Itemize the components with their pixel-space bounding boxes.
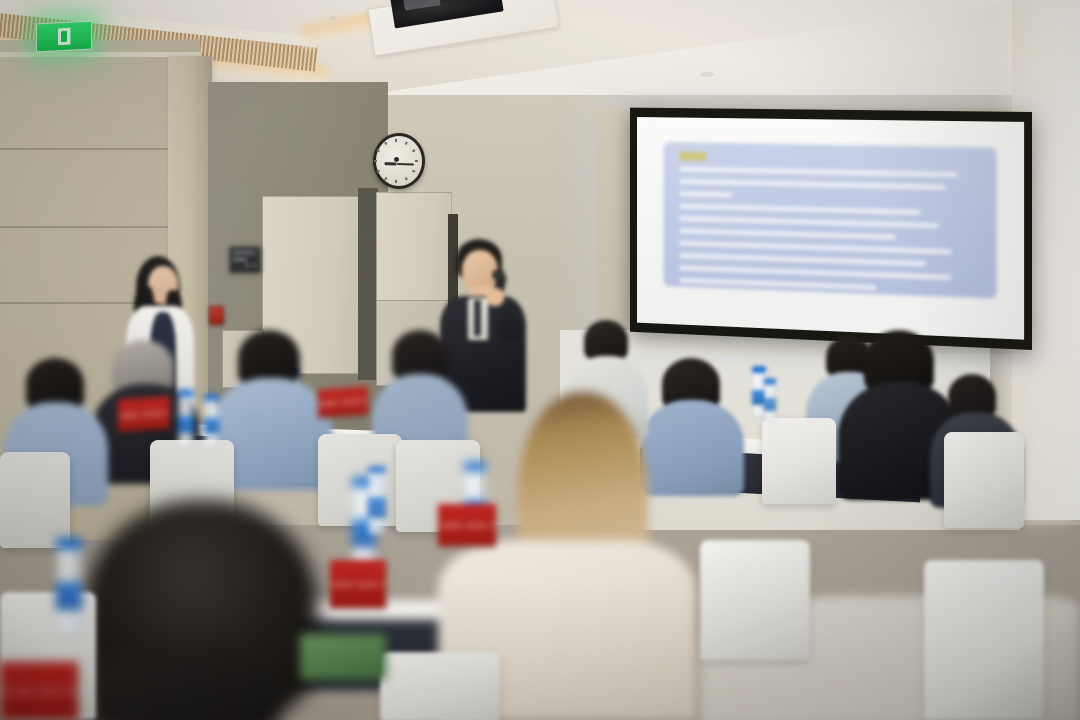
table-name-card: red table name card [0, 662, 78, 720]
ceiling-sprinkler [330, 16, 337, 20]
bottle-cap [178, 390, 194, 397]
water-bottle[interactable] [368, 472, 386, 534]
bottle-label [368, 497, 386, 518]
table-name-card: red table name card [438, 504, 496, 546]
chair[interactable] [944, 432, 1024, 528]
water-bottle[interactable] [204, 400, 219, 446]
emergency-call-point-icon[interactable] [209, 306, 224, 325]
hand [486, 288, 504, 306]
clock-minute-hand [396, 163, 413, 166]
hair [392, 330, 448, 380]
av-control-panel[interactable] [229, 246, 261, 273]
clock-hour-hand [384, 162, 396, 165]
water-bottle[interactable] [764, 384, 776, 420]
running-man-icon [58, 28, 71, 46]
water-bottle[interactable] [56, 548, 82, 632]
bottle-cap [56, 538, 82, 549]
bottle-label [178, 416, 194, 433]
wall-cabinet-upper[interactable] [376, 192, 452, 302]
arm [500, 306, 520, 340]
name-card-text: red table name card [330, 580, 386, 589]
necktie [474, 300, 481, 336]
bottle-label [204, 418, 219, 434]
bottle-cap [752, 366, 766, 373]
microphone-head-icon [492, 269, 505, 281]
bottle-label [764, 398, 776, 410]
name-card-text: red table name card [318, 395, 368, 410]
chair[interactable] [380, 652, 500, 720]
slide-body-text: Slide body text is out of focus and unre… [663, 142, 996, 299]
name-card-text: red table name card [0, 687, 78, 696]
cabinet-gap [358, 188, 378, 380]
name-card-text: red table name card [118, 407, 170, 422]
hair [584, 320, 628, 360]
exit-sign [36, 21, 92, 53]
chair[interactable] [0, 452, 70, 548]
bottle-cap [368, 466, 386, 473]
table-name-card: red table name card [318, 386, 368, 417]
chair[interactable] [700, 540, 810, 660]
chair[interactable] [924, 560, 1044, 720]
water-bottle[interactable] [178, 396, 194, 446]
screen-surface: Slide body text is out of focus and unre… [637, 117, 1024, 340]
chair[interactable] [762, 418, 836, 504]
table-name-card: red table name card [330, 560, 386, 608]
bottle-cap [204, 394, 219, 401]
torso-blue-shirt [640, 400, 744, 496]
bottle-cap [764, 378, 776, 385]
clock-center-pin [394, 157, 399, 162]
bottle-label [56, 582, 82, 611]
name-card-text: red table name card [438, 521, 496, 530]
ceiling-seam [700, 72, 714, 77]
presentation-slide: Slide body text is out of focus and unre… [663, 142, 996, 299]
green-notebook[interactable] [300, 634, 386, 680]
wall-clock [373, 133, 425, 189]
table-name-card: red table name card [118, 396, 170, 432]
projection-screen: Slide body text is out of focus and unre… [630, 108, 1032, 350]
bottle-cap [464, 462, 486, 471]
conference-room-photo: Slide body text is out of focus and unre… [0, 0, 1080, 720]
